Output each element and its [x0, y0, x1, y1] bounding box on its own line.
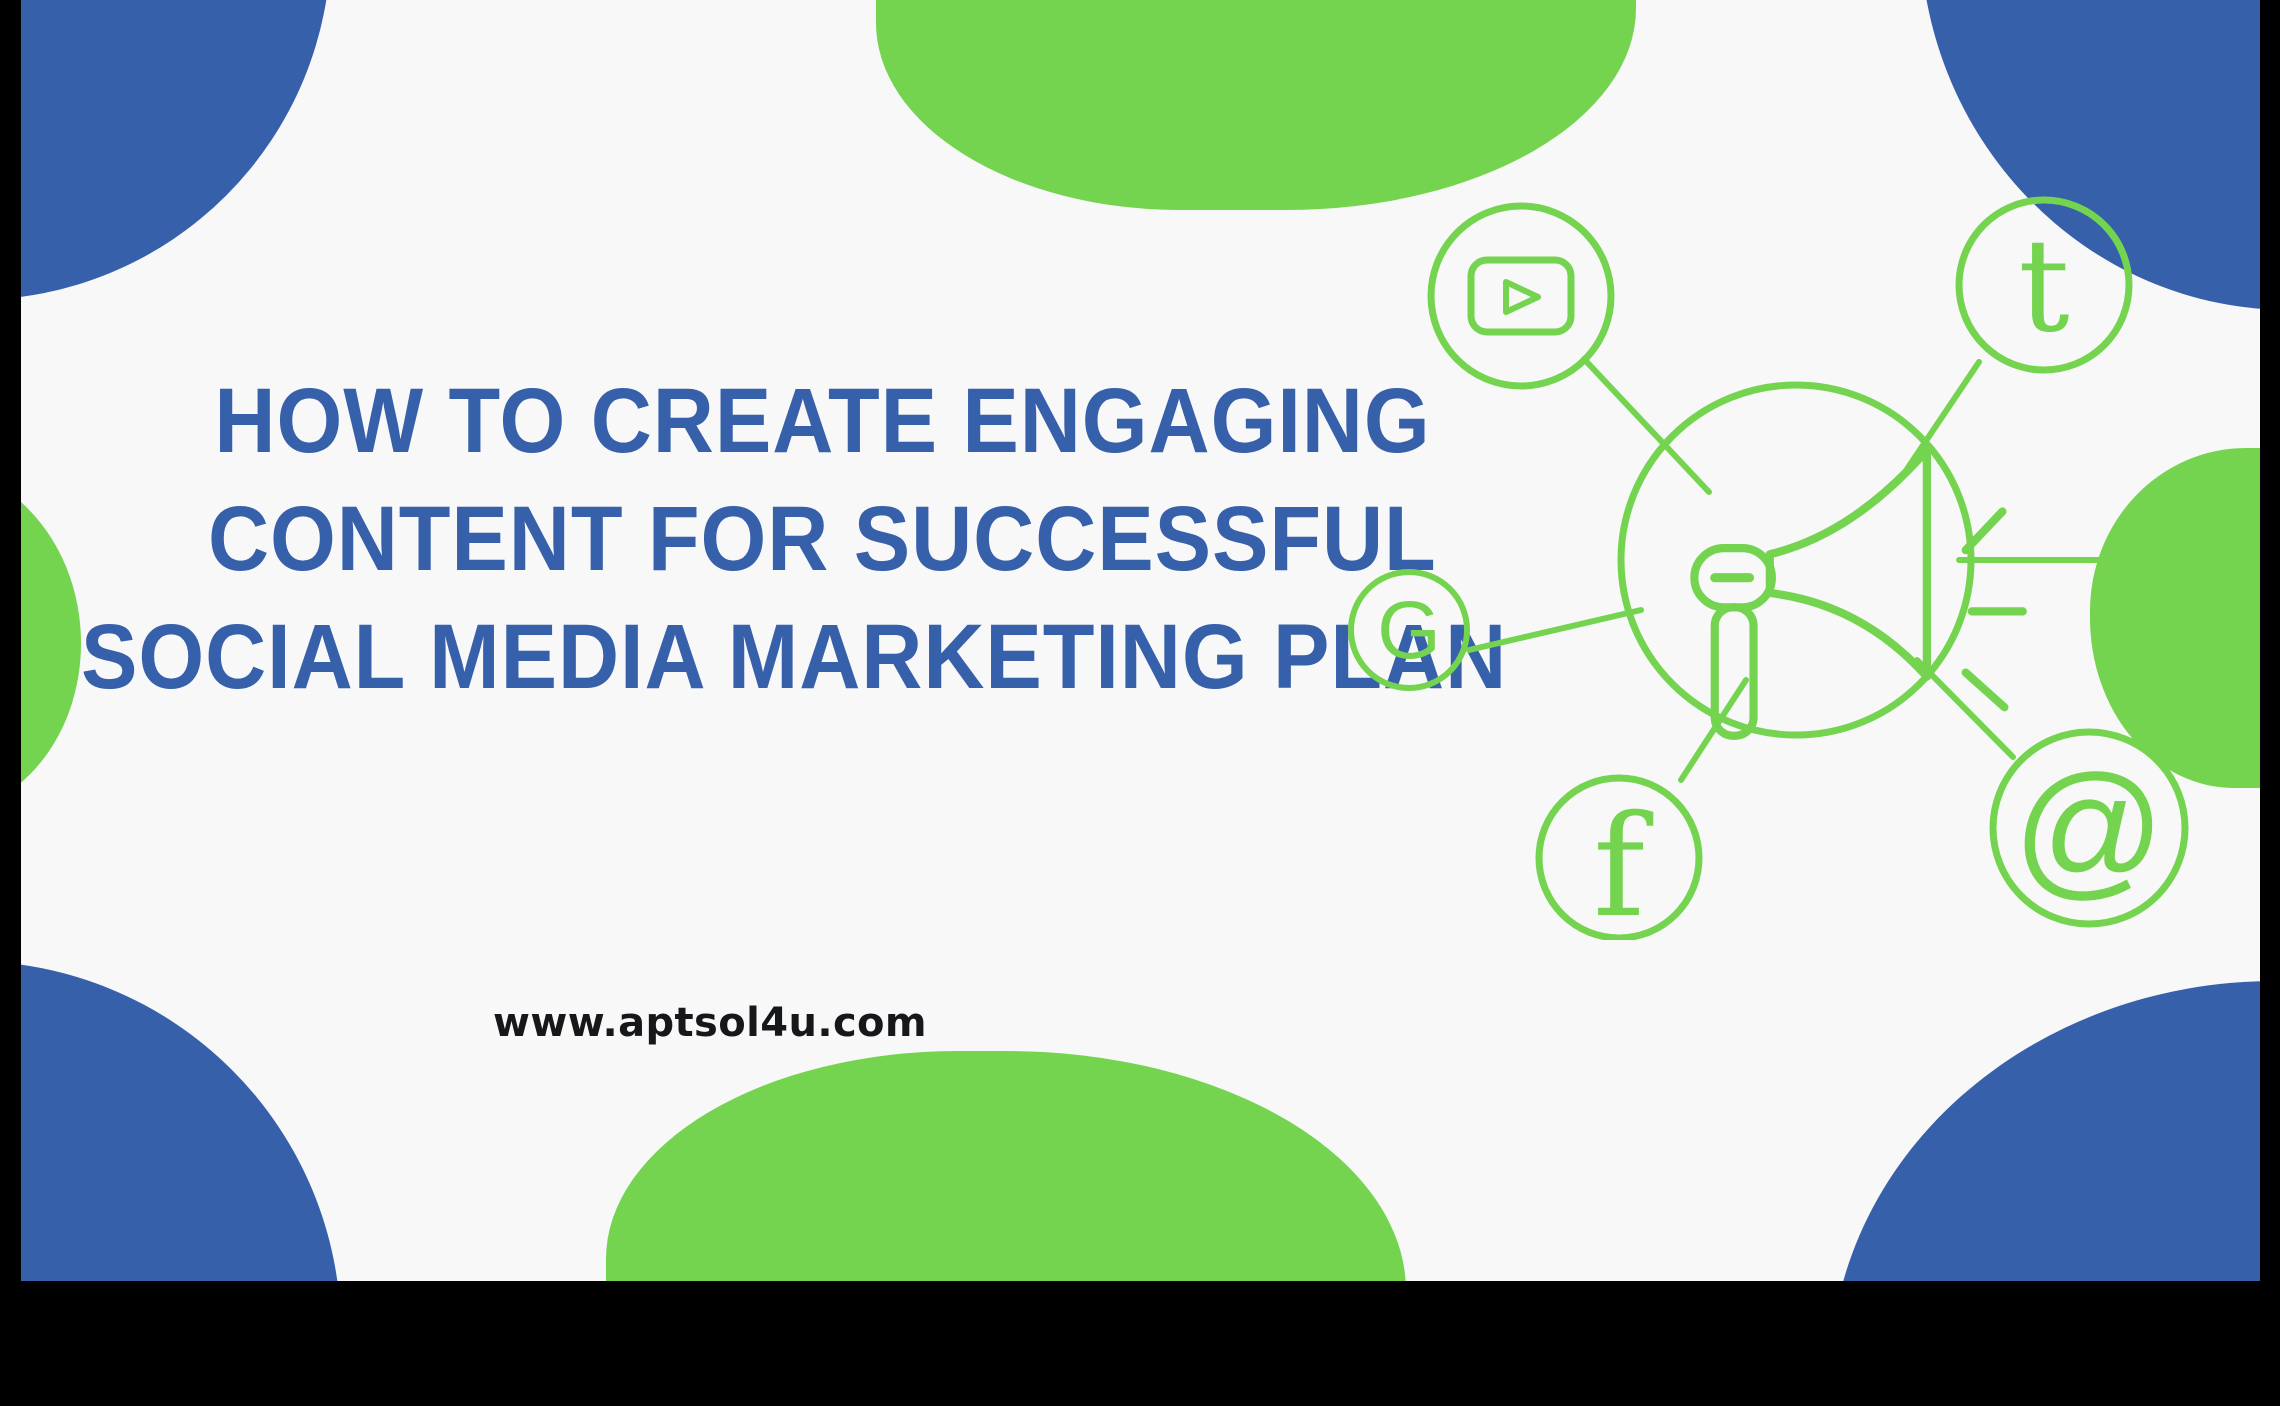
- youtube-play-triangle: [1506, 282, 1538, 312]
- youtube-play-icon: [1471, 260, 1571, 332]
- twitter-t-icon: t: [2018, 212, 2069, 361]
- slide-canvas: HOW TO CREATE ENGAGING CONTENT FOR SUCCE…: [21, 0, 2260, 1281]
- website-url: www.aptsol4u.com: [493, 1000, 927, 1046]
- blob-green-left: [21, 466, 81, 814]
- title-line-3: SOCIAL MEDIA MARKETING PLAN: [81, 598, 1277, 716]
- node-facebook: f: [1539, 778, 1699, 940]
- email-at-icon: @: [2013, 744, 2165, 912]
- megaphone-wave-bottom: [1966, 673, 2005, 708]
- node-linkedin: in: [2126, 500, 2246, 620]
- connector-google: [1469, 610, 1641, 650]
- node-google: G: [1351, 572, 1467, 688]
- blob-blue-bottom-right: [1830, 981, 2260, 1281]
- megaphone-icon: [1694, 450, 2022, 736]
- page-title: HOW TO CREATE ENGAGING CONTENT FOR SUCCE…: [81, 362, 1381, 716]
- megaphone-horn-body: [1770, 450, 1927, 676]
- slide-stage: HOW TO CREATE ENGAGING CONTENT FOR SUCCE…: [0, 0, 2280, 1406]
- connector-lines: [1469, 359, 2131, 780]
- google-g-icon: G: [1377, 585, 1441, 676]
- linkedin-in-icon: in: [2160, 526, 2213, 602]
- node-youtube: [1431, 206, 1611, 386]
- youtube-circle: [1431, 206, 1611, 386]
- social-media-network-diagram: t in @ f: [1341, 140, 2260, 940]
- blob-blue-bottom-left: [21, 961, 341, 1281]
- node-email: @: [1993, 732, 2185, 924]
- hub-circle: [1621, 385, 1971, 735]
- title-line-1: HOW TO CREATE ENGAGING: [81, 362, 1277, 480]
- blob-green-bottom: [606, 1051, 1406, 1281]
- facebook-f-icon: f: [1593, 786, 1654, 940]
- node-twitter: t: [1959, 200, 2129, 370]
- title-line-2: CONTENT FOR SUCCESSFUL: [81, 480, 1277, 598]
- blob-blue-top-left: [21, 0, 331, 300]
